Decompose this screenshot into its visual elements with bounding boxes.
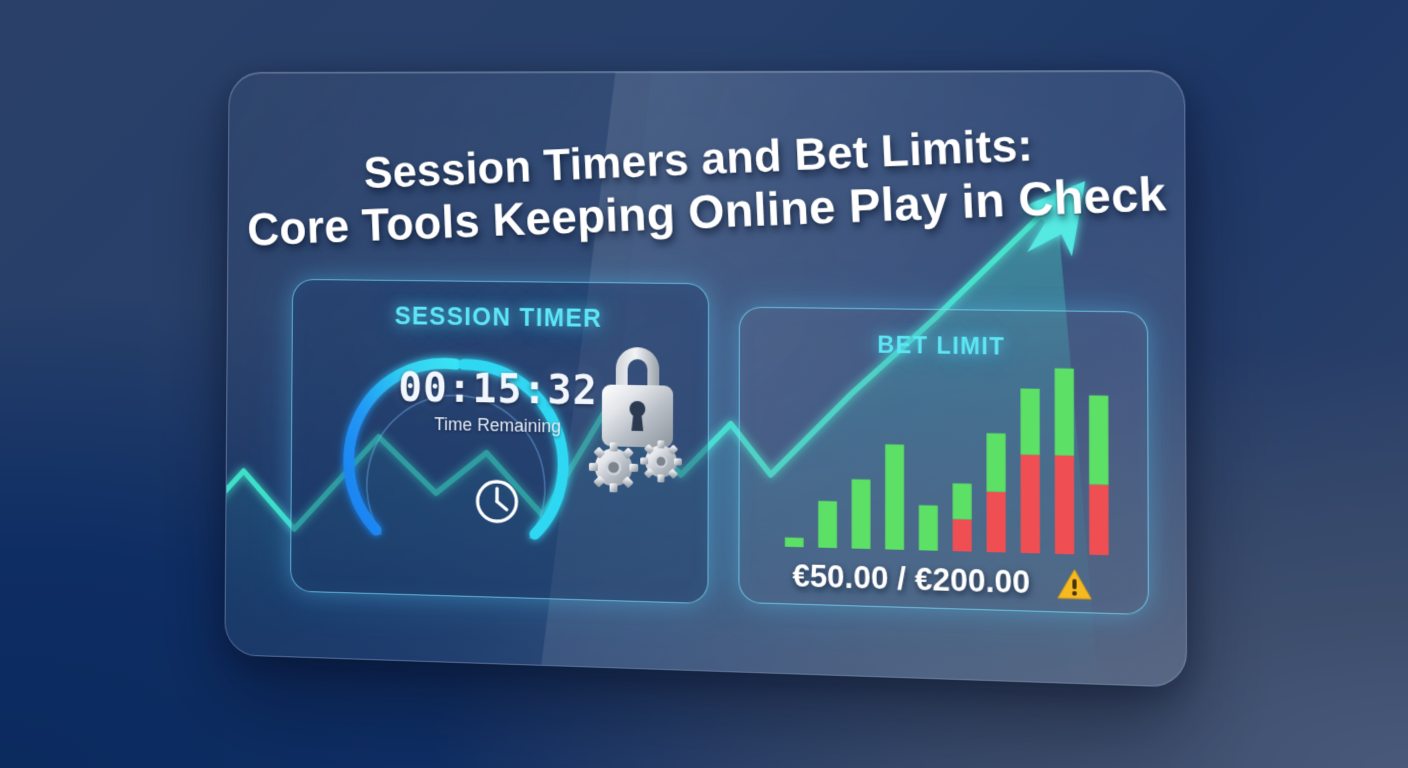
bet-limit-text: €50.00 / €200.00 (792, 558, 1030, 601)
bar-segment-green (953, 483, 972, 519)
session-timer-heading: SESSION TIMER (293, 301, 708, 335)
bar-segment-red (953, 519, 972, 552)
page-title: Session Timers and Bet Limits: Core Tool… (227, 112, 1186, 257)
session-timer-panel[interactable]: SESSION TIMER (290, 279, 709, 604)
bar-segment-green (987, 433, 1006, 492)
bar-segment-green (919, 505, 938, 551)
bar-segment-green (1021, 388, 1040, 454)
bar-segment-green (885, 444, 904, 550)
bar-segment-green (818, 501, 837, 548)
bar-segment-green (852, 479, 871, 549)
bar-segment-red (1089, 484, 1108, 555)
glass-card-wrapper: Session Timers and Bet Limits: Core Tool… (224, 70, 1187, 688)
bet-limit-panel[interactable]: BET LIMIT €50.00 / €200.00 (738, 307, 1149, 616)
bet-limit-heading: BET LIMIT (740, 330, 1147, 363)
bar-segment-red (1021, 455, 1040, 554)
warning-triangle-icon[interactable] (1057, 567, 1092, 601)
glass-card: Session Timers and Bet Limits: Core Tool… (224, 70, 1187, 688)
gear-small (640, 440, 682, 483)
bet-limit-row: €50.00 / €200.00 (739, 557, 1147, 605)
bar-segment-red (1055, 455, 1074, 554)
lock-and-gears-group (586, 335, 695, 497)
bar-segment-green (1055, 368, 1074, 455)
lock-shackle (616, 347, 660, 388)
clock-icon (472, 475, 523, 528)
bar-segment-red (987, 492, 1006, 553)
bar-segment-green (1089, 395, 1108, 485)
bet-limit-bar-chart (778, 360, 1117, 555)
gear-large (589, 442, 638, 493)
bar-segment-green (785, 537, 804, 547)
